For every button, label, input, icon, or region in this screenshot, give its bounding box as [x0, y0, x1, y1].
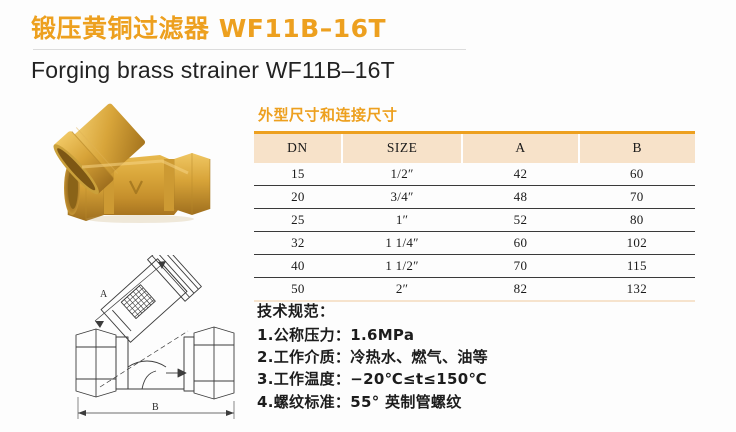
specs-title: 技术规范： [257, 300, 488, 321]
cell-b: 102 [579, 232, 695, 255]
cell-b: 132 [579, 278, 695, 302]
cell-a: 70 [462, 255, 578, 278]
cell-dn: 32 [254, 232, 342, 255]
table-row: 40 1 1/2″ 70 115 [254, 255, 695, 278]
column-header-a: A [462, 133, 578, 164]
cell-dn: 15 [254, 163, 342, 186]
cell-a: 60 [462, 232, 578, 255]
table-row: 20 3/4″ 48 70 [254, 186, 695, 209]
strainer-dimension-drawing-image: A B [38, 255, 248, 427]
dimensions-table-head: DN SIZE A B [254, 133, 695, 164]
drawing-label-a: A [100, 289, 108, 300]
spec-item-medium: 2.工作介质：冷热水、燃气、油等 [257, 346, 488, 368]
cell-dn: 20 [254, 186, 342, 209]
cell-dn: 25 [254, 209, 342, 232]
drawing-label-b: B [152, 402, 159, 413]
column-header-b: B [579, 133, 695, 164]
page-title-chinese: 锻压黄铜过滤器 WF11B–16T [31, 9, 386, 45]
table-row: 50 2″ 82 132 [254, 278, 695, 302]
cell-a: 52 [462, 209, 578, 232]
cell-size: 1 1/4″ [342, 232, 463, 255]
product-photo [42, 97, 242, 247]
page-title-english: Forging brass strainer WF11B–16T [31, 57, 395, 84]
brass-y-strainer-image [42, 97, 242, 247]
dimensions-table-body: 15 1/2″ 42 60 20 3/4″ 48 70 25 1″ 52 80 … [254, 163, 695, 301]
cell-b: 80 [579, 209, 695, 232]
cell-b: 115 [579, 255, 695, 278]
cell-b: 70 [579, 186, 695, 209]
table-row: 15 1/2″ 42 60 [254, 163, 695, 186]
dimensions-table: DN SIZE A B 15 1/2″ 42 60 20 3/4″ 48 70 … [254, 131, 695, 302]
spec-item-pressure: 1.公称压力：1.6MPa [257, 324, 488, 346]
title-divider [33, 49, 466, 50]
spec-item-thread: 4.螺纹标准：55° 英制管螺纹 [257, 391, 488, 413]
cell-b: 60 [579, 163, 695, 186]
table-header-row: DN SIZE A B [254, 133, 695, 164]
cell-size: 1/2″ [342, 163, 463, 186]
column-header-size: SIZE [342, 133, 463, 164]
cell-a: 42 [462, 163, 578, 186]
cell-a: 82 [462, 278, 578, 302]
cell-size: 1″ [342, 209, 463, 232]
cell-dn: 50 [254, 278, 342, 302]
cell-size: 2″ [342, 278, 463, 302]
column-header-dn: DN [254, 133, 342, 164]
cell-size: 1 1/2″ [342, 255, 463, 278]
dimensions-heading: 外型尺寸和连接尺寸 [258, 104, 398, 125]
cell-size: 3/4″ [342, 186, 463, 209]
spec-item-temperature: 3.工作温度：−20℃≤t≤150℃ [257, 368, 488, 390]
table-row: 32 1 1/4″ 60 102 [254, 232, 695, 255]
cell-a: 48 [462, 186, 578, 209]
table-row: 25 1″ 52 80 [254, 209, 695, 232]
technical-specifications: 技术规范： 1.公称压力：1.6MPa 2.工作介质：冷热水、燃气、油等 3.工… [257, 300, 488, 413]
cell-dn: 40 [254, 255, 342, 278]
product-drawing: A B [38, 255, 248, 427]
